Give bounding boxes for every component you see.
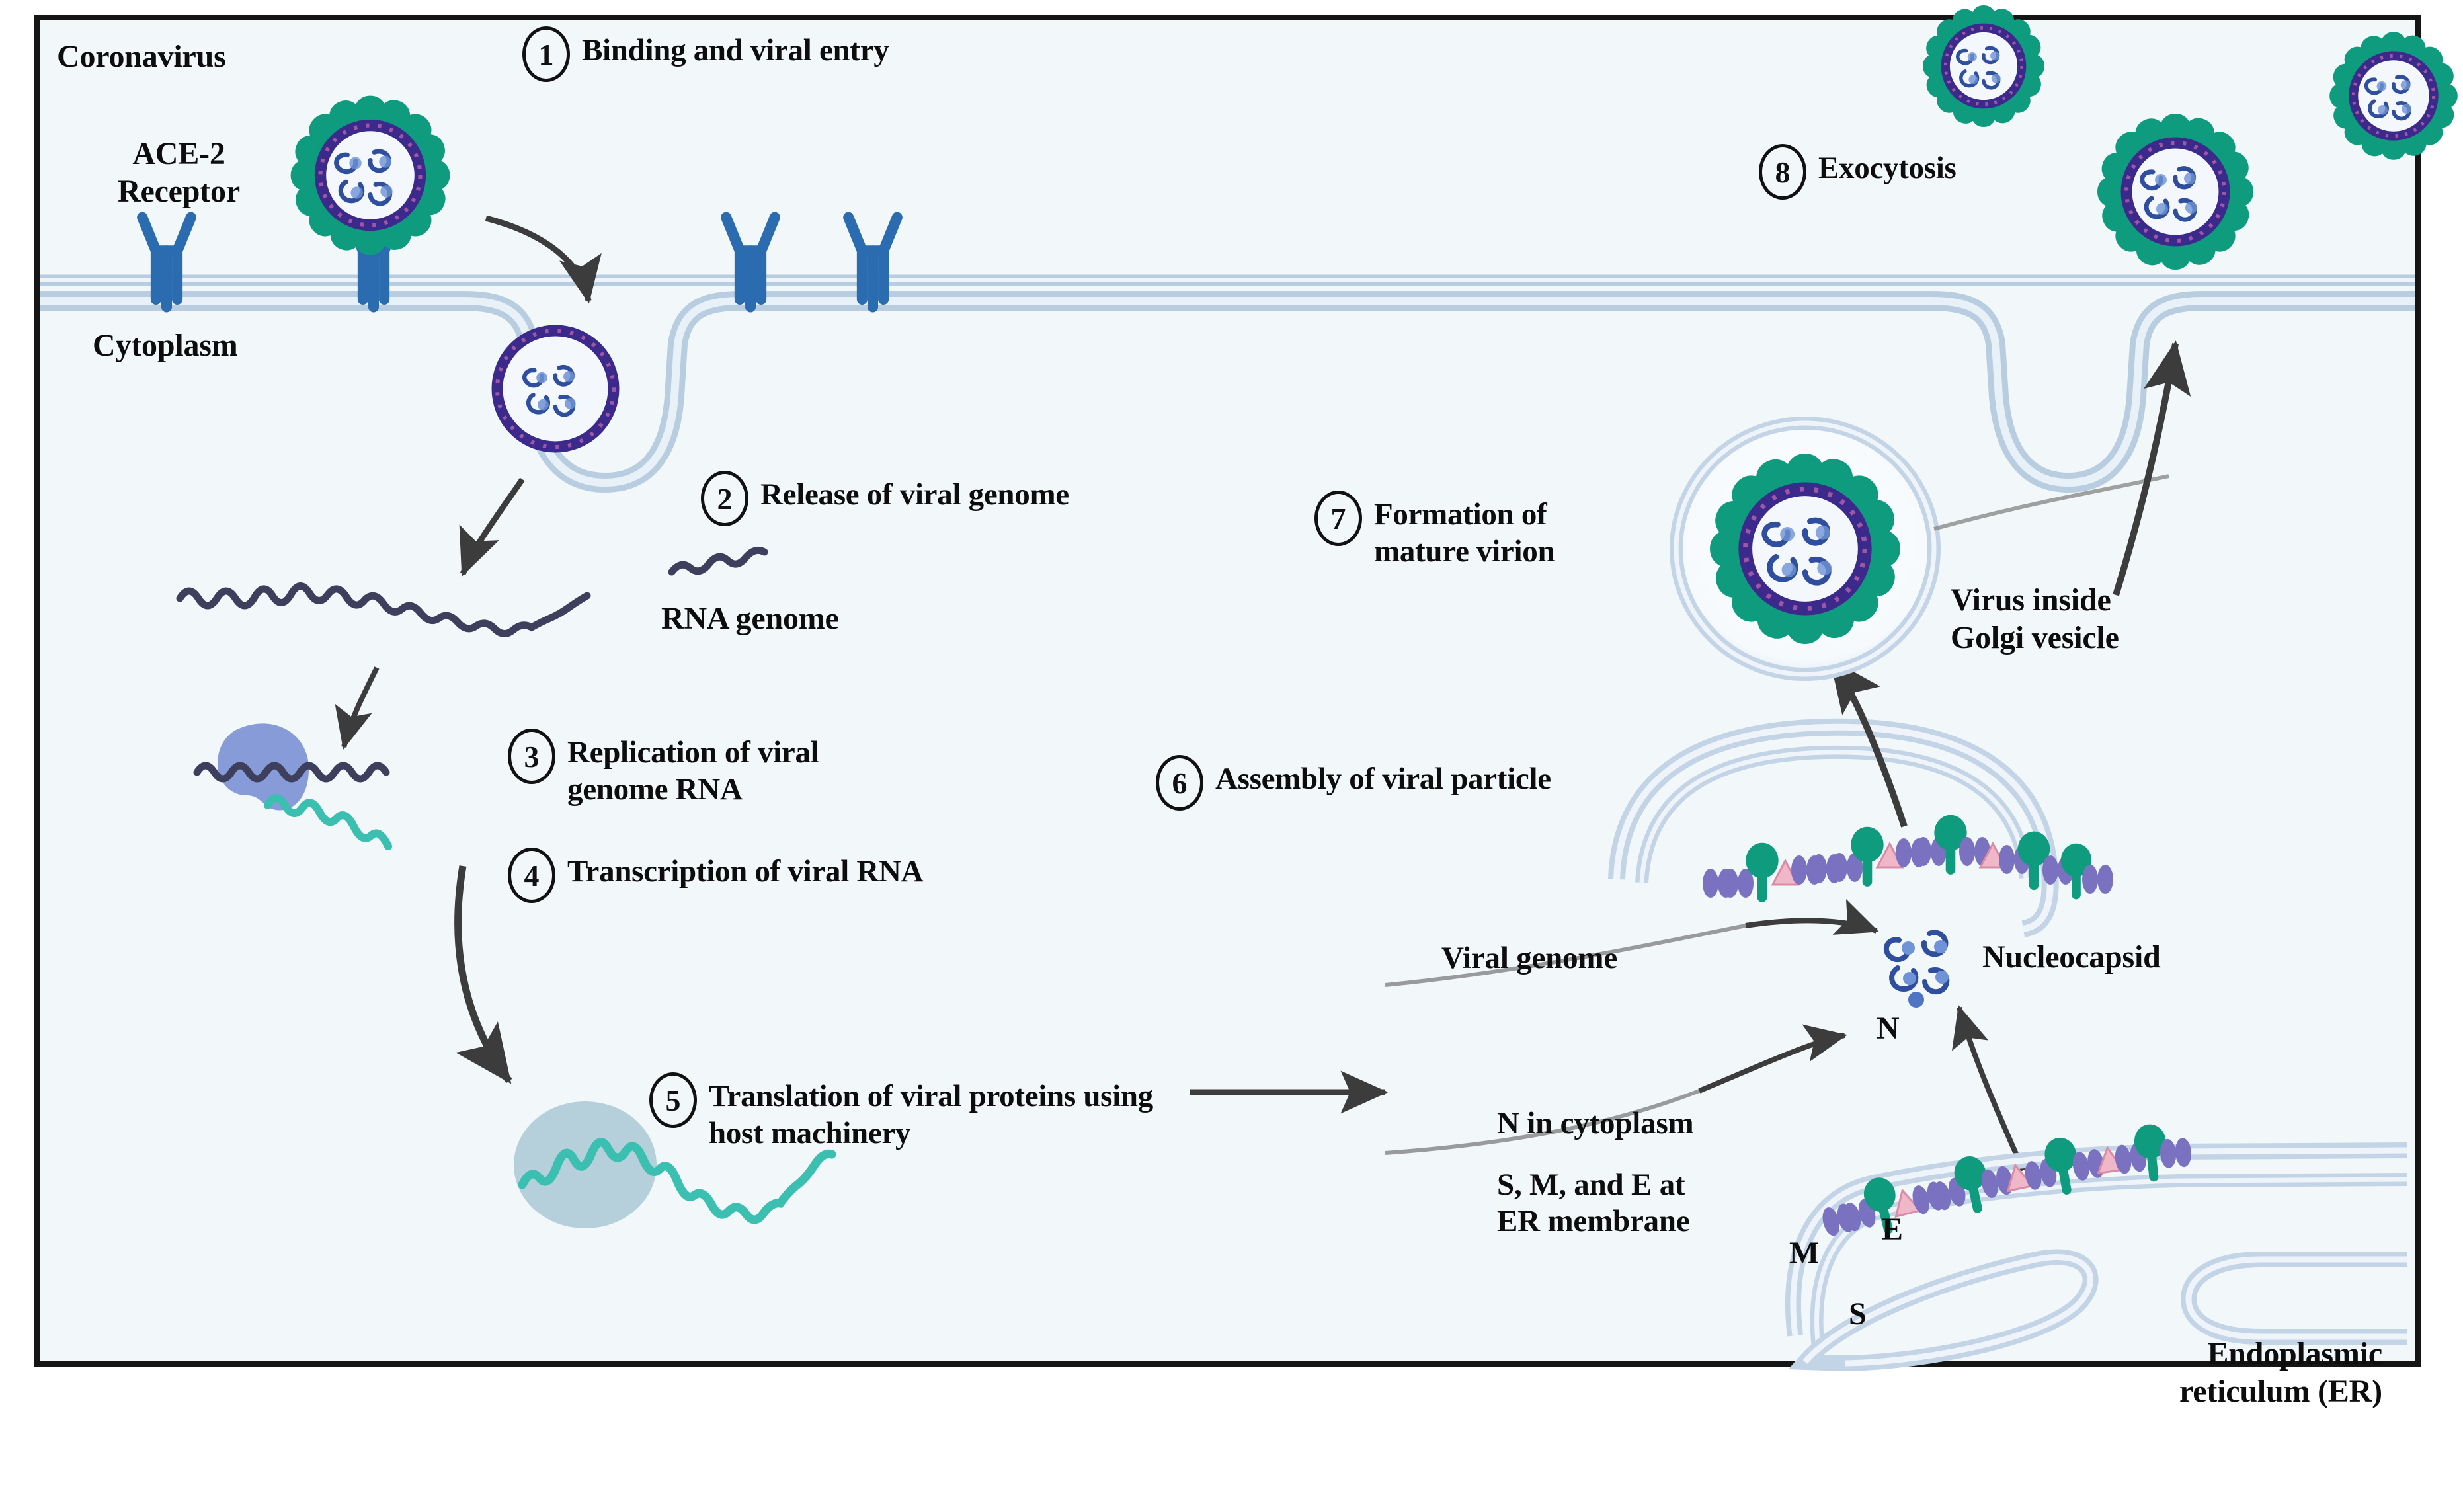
step-8-label: Exocytosis [1818,144,1957,186]
label-coronavirus: Coronavirus [57,38,226,76]
label-ace2-receptor: ACE-2 Receptor [118,136,240,210]
step-3-number: 3 [508,729,555,784]
label-sme-at-er-membrane: S, M, and E at ER membrane [1497,1167,1690,1240]
diagram-frame [34,15,2421,1367]
step-8-exocytosis[interactable]: 8 Exocytosis [1759,144,1957,200]
label-nucleocapsid: Nucleocapsid [1982,939,2161,976]
step-2-number: 2 [701,471,748,526]
step-1-number: 1 [522,26,570,82]
step-5-number: 5 [649,1072,697,1128]
step-1-binding-and-viral-entry[interactable]: 1 Binding and viral entry [522,26,889,82]
step-7-number: 7 [1314,491,1362,546]
step-3-replication-of-viral-genome-rna[interactable]: 3 Replication of viral genome RNA [508,729,819,809]
step-8-number: 8 [1759,144,1806,200]
label-viral-genome: Viral genome [1441,940,1617,976]
label-n-in-cytoplasm: N in cytoplasm [1497,1105,1694,1142]
label-n-protein: N [1877,1010,1899,1048]
step-4-label: Transcription of viral RNA [567,848,923,890]
label-e-protein: E [1882,1211,1903,1249]
step-7-formation-of-mature-virion[interactable]: 7 Formation of mature virion [1314,491,1555,571]
step-5-translation-of-viral-proteins[interactable]: 5 Translation of viral proteins using ho… [649,1072,1153,1152]
step-2-label: Release of viral genome [760,471,1069,513]
label-virus-inside-golgi-vesicle: Virus inside Golgi vesicle [1951,582,2119,657]
label-m-protein: M [1789,1235,1819,1273]
step-6-assembly-of-viral-particle[interactable]: 6 Assembly of viral particle [1156,755,1551,811]
label-cytoplasm: Cytoplasm [93,327,238,365]
step-5-label: Translation of viral proteins using host… [709,1072,1153,1152]
step-1-label: Binding and viral entry [582,26,889,69]
step-6-number: 6 [1156,755,1203,811]
step-6-label: Assembly of viral particle [1215,755,1551,797]
label-endoplasmic-reticulum: Endoplasmic reticulum (ER) [2179,1335,2382,1410]
step-4-number: 4 [508,848,555,903]
step-2-release-of-viral-genome[interactable]: 2 Release of viral genome [701,471,1069,526]
label-rna-genome: RNA genome [661,600,839,638]
step-3-label: Replication of viral genome RNA [567,729,819,809]
step-4-transcription-of-viral-rna[interactable]: 4 Transcription of viral RNA [508,848,923,903]
step-7-label: Formation of mature virion [1374,491,1555,571]
label-s-protein: S [1849,1296,1867,1333]
diagram-canvas: Coronavirus ACE-2 Receptor Cytoplasm RNA… [0,0,2463,1512]
